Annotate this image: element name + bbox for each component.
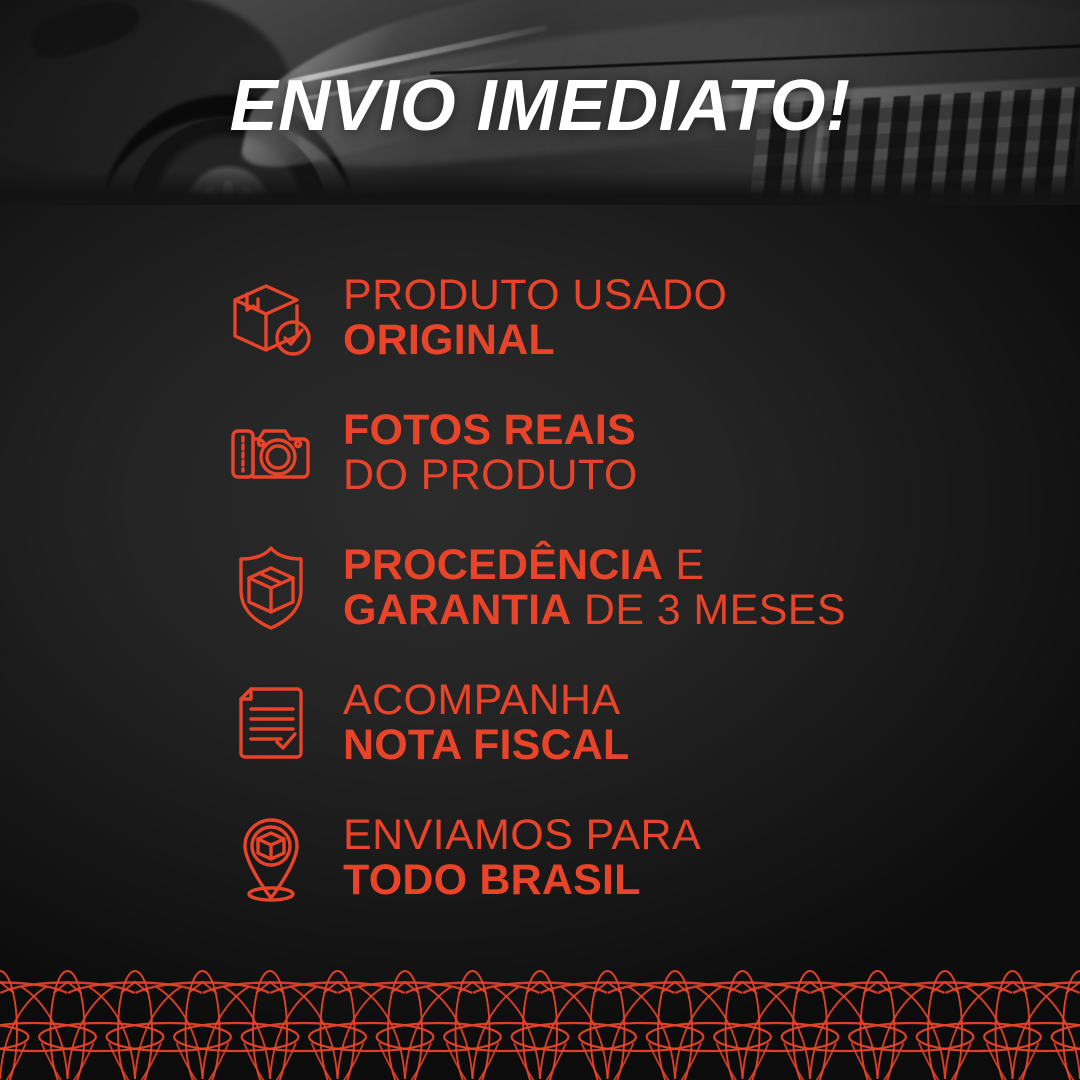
feature-line-1: ENVIAMOS PARA	[343, 813, 701, 858]
feature-line-2: NOTA FISCAL	[343, 723, 629, 768]
shield-box-icon	[225, 542, 317, 634]
invoice-document-check-icon	[225, 677, 317, 769]
feature-line-1-emphasis: PROCEDÊNCIA	[343, 541, 663, 589]
feature-text: ACOMPANHA NOTA FISCAL	[343, 678, 629, 767]
feature-line-2: DO PRODUTO	[343, 453, 638, 498]
feature-line-1: PROCEDÊNCIA E	[343, 543, 846, 588]
promo-banner: ENVIO IMEDIATO! PRODUTO USADO	[0, 0, 1080, 1080]
feature-text: ENVIAMOS PARA TODO BRASIL	[343, 813, 701, 902]
header-title: ENVIO IMEDIATO!	[0, 0, 1080, 205]
feature-line-1: ACOMPANHA	[343, 678, 629, 723]
dslr-camera-icon	[225, 407, 317, 499]
feature-line-2: TODO BRASIL	[343, 858, 701, 903]
feature-line-2: GARANTIA DE 3 MESES	[343, 588, 846, 633]
header-banner: ENVIO IMEDIATO!	[0, 0, 1080, 205]
feature-item: PROCEDÊNCIA E GARANTIA DE 3 MESES	[0, 520, 1080, 655]
feature-item: ENVIAMOS PARA TODO BRASIL	[0, 790, 1080, 925]
feature-item: ACOMPANHA NOTA FISCAL	[0, 655, 1080, 790]
feature-item: PRODUTO USADO ORIGINAL	[0, 250, 1080, 385]
feature-line-1-rest: E	[663, 541, 704, 589]
feature-line-1: PRODUTO USADO	[343, 273, 727, 318]
feature-item: FOTOS REAIS DO PRODUTO	[0, 385, 1080, 520]
map-pin-box-icon	[225, 812, 317, 904]
feature-line-2-emphasis: GARANTIA	[343, 586, 572, 634]
feature-line-2: ORIGINAL	[343, 318, 727, 363]
guilloche-lattice-pattern	[0, 945, 1080, 1080]
package-box-check-icon	[225, 272, 317, 364]
feature-line-2-rest: DE 3 MESES	[572, 586, 846, 634]
feature-text: PRODUTO USADO ORIGINAL	[343, 273, 727, 362]
feature-line-1: FOTOS REAIS	[343, 408, 638, 453]
features-list: PRODUTO USADO ORIGINAL	[0, 205, 1080, 925]
feature-text: PROCEDÊNCIA E GARANTIA DE 3 MESES	[343, 543, 846, 632]
feature-text: FOTOS REAIS DO PRODUTO	[343, 408, 638, 497]
